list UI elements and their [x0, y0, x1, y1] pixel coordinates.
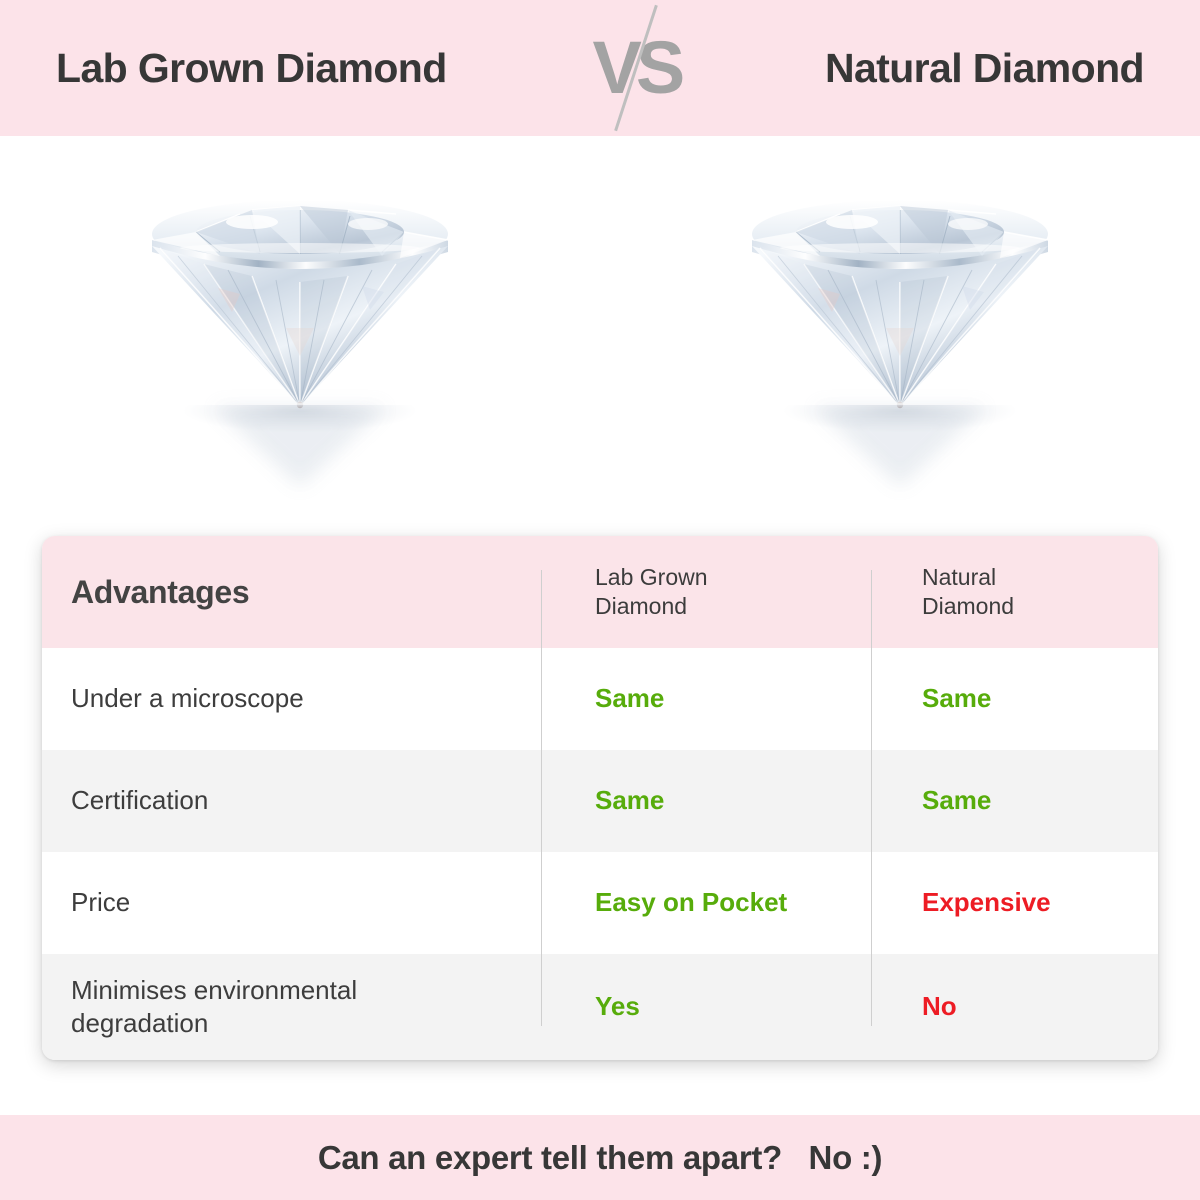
table-header-advantages-cell: Advantages [42, 574, 542, 611]
table-row: Minimises environmental degradation Yes … [42, 954, 1158, 1060]
row-lab-cell: Easy on Pocket [542, 887, 872, 918]
row-lab-cell: Same [542, 683, 872, 714]
table-header-advantages: Advantages [71, 574, 249, 610]
row-lab-value: Easy on Pocket [595, 887, 787, 917]
row-natural-value: Same [922, 785, 991, 815]
table-header-natural-line1: Natural [922, 563, 1158, 592]
natural-diamond-image [700, 160, 1100, 490]
footer-band: Can an expert tell them apart? No :) [0, 1115, 1200, 1200]
header-title-natural: Natural Diamond [825, 48, 1144, 89]
row-feature-label: Minimises environmental degradation [71, 974, 542, 1040]
comparison-card: Advantages Lab Grown Diamond Natural Dia… [42, 536, 1158, 1060]
row-feature-label-line1: Minimises environmental [71, 974, 542, 1007]
diamond-images-area [0, 136, 1200, 532]
table-header-natural: Natural Diamond [922, 563, 1158, 621]
table-row: Under a microscope Same Same [42, 648, 1158, 750]
comparison-table: Advantages Lab Grown Diamond Natural Dia… [42, 536, 1158, 1060]
diamond-illustration [700, 160, 1100, 420]
table-header-lab-grown-line1: Lab Grown [595, 563, 872, 592]
table-header-natural-line2: Diamond [922, 592, 1158, 621]
header-band: Lab Grown Diamond VS Natural Diamond [0, 0, 1200, 136]
diamond-cell-lab-grown [0, 136, 600, 532]
vs-badge: VS [576, 8, 696, 128]
footer-question-answer: Can an expert tell them apart? No :) [318, 1139, 882, 1177]
diamond-cell-natural [600, 136, 1200, 532]
row-feature-cell: Under a microscope [42, 682, 542, 715]
table-row: Price Easy on Pocket Expensive [42, 852, 1158, 954]
table-row: Certification Same Same [42, 750, 1158, 852]
row-natural-cell: Same [872, 683, 1158, 714]
row-feature-label: Certification [71, 785, 208, 815]
header-title-lab-grown: Lab Grown Diamond [56, 48, 447, 89]
lab-grown-diamond-image [100, 160, 500, 490]
row-natural-value: No [922, 991, 957, 1021]
row-natural-value: Expensive [922, 887, 1051, 917]
row-feature-cell: Minimises environmental degradation [42, 974, 542, 1040]
row-lab-cell: Yes [542, 991, 872, 1022]
row-lab-cell: Same [542, 785, 872, 816]
row-natural-value: Same [922, 683, 991, 713]
row-feature-label: Under a microscope [71, 683, 304, 713]
table-header-row: Advantages Lab Grown Diamond Natural Dia… [42, 536, 1158, 648]
row-lab-value: Same [595, 683, 664, 713]
header-inner: Lab Grown Diamond VS Natural Diamond [0, 8, 1200, 128]
diamond-illustration [100, 160, 500, 420]
row-feature-cell: Price [42, 886, 542, 919]
row-lab-value: Yes [595, 991, 640, 1021]
table-header-lab-grown-cell: Lab Grown Diamond [542, 563, 872, 621]
table-header-lab-grown-line2: Diamond [595, 592, 872, 621]
row-natural-cell: Expensive [872, 887, 1158, 918]
table-header-natural-cell: Natural Diamond [872, 563, 1158, 621]
row-feature-label: Price [71, 887, 130, 917]
row-lab-value: Same [595, 785, 664, 815]
row-feature-cell: Certification [42, 784, 542, 817]
row-natural-cell: No [872, 991, 1158, 1022]
row-natural-cell: Same [872, 785, 1158, 816]
row-feature-label-line2: degradation [71, 1007, 542, 1040]
table-header-lab-grown: Lab Grown Diamond [595, 563, 872, 621]
